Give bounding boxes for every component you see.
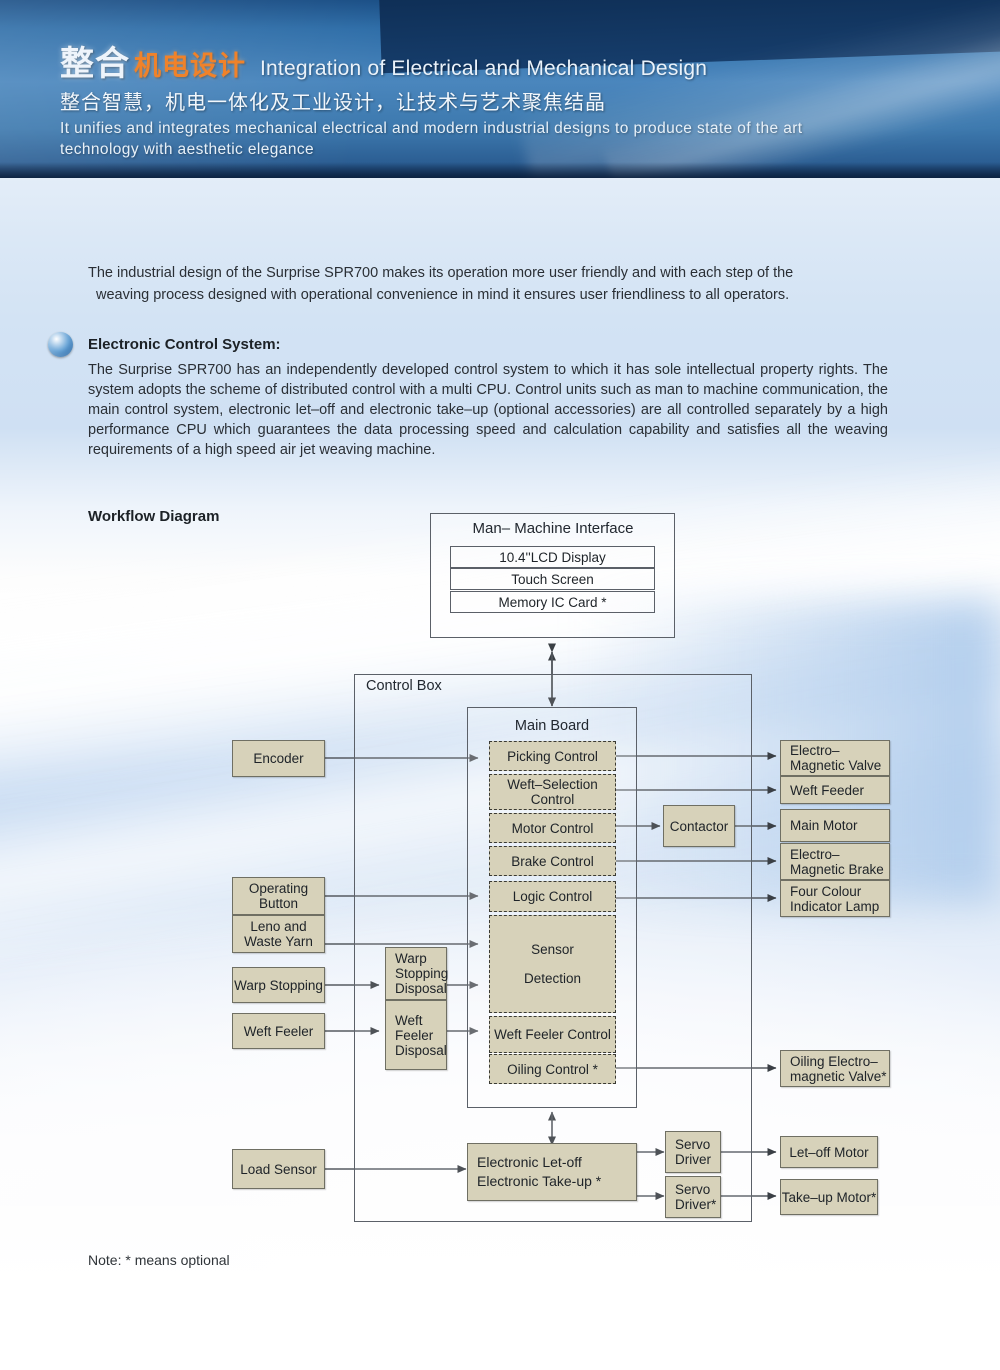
- header-english-title: Integration of Electrical and Mechanical…: [260, 57, 707, 81]
- header-bottom-shadow: [0, 162, 1000, 178]
- intro-line-1: The industrial design of the Surprise SP…: [88, 265, 793, 281]
- background-right-glow: [580, 600, 1000, 900]
- section-body-text: The Surprise SPR700 has an independently…: [88, 360, 888, 460]
- header-english-subtitle: It unifies and integrates mechanical ele…: [60, 118, 820, 160]
- intro-paragraph: The industrial design of the Surprise SP…: [88, 262, 878, 306]
- blue-sphere-icon: [48, 332, 73, 357]
- diagram-footnote: Note: * means optional: [88, 1252, 230, 1268]
- page-header-banner: 整合 机电设计 Integration of Electrical and Me…: [0, 0, 1000, 178]
- intro-line-2: weaving process designed with operationa…: [96, 284, 878, 306]
- background-bottom-fade: [0, 1180, 1000, 1370]
- header-chinese-subtitle: 整合智慧，机电一体化及工业设计，让技术与艺术聚焦结晶: [60, 86, 606, 115]
- section-heading: Electronic Control System:: [88, 336, 281, 353]
- page-root: 整合 机电设计 Integration of Electrical and Me…: [0, 0, 1000, 1370]
- workflow-diagram-title: Workflow Diagram: [88, 508, 219, 525]
- header-chinese-title-primary: 整合: [60, 36, 130, 85]
- header-title-row: 整合 机电设计 Integration of Electrical and Me…: [60, 36, 707, 85]
- header-chinese-title-accent: 机电设计: [134, 44, 246, 83]
